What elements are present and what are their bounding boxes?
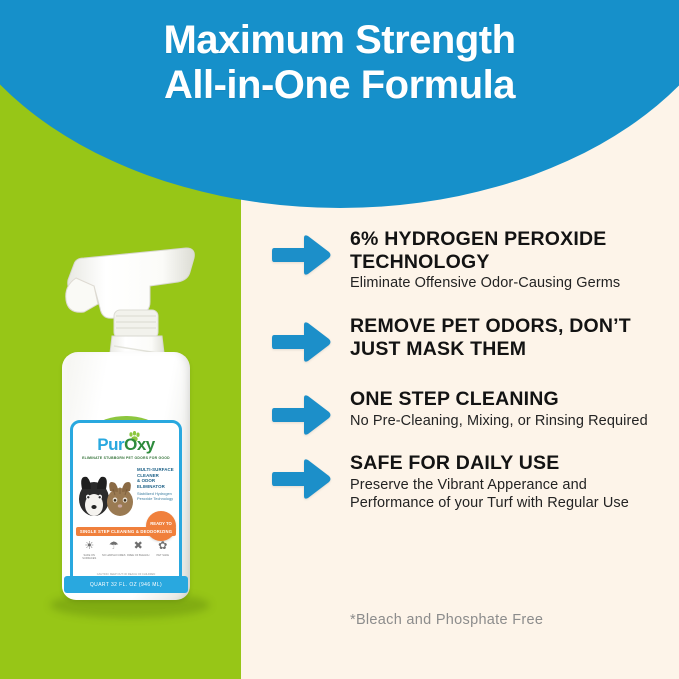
list-item: REMOVE PET ODORS, DON’T JUST MASK THEM <box>272 315 672 360</box>
benefit-icon-4: ✿ PET SAFE <box>151 541 175 557</box>
list-item: 6% HYDROGEN PEROXIDE TECHNOLOGY Eliminat… <box>272 228 672 293</box>
product-tagline: ELIMINATE STUBBORN PET ODORS FOR GOOD <box>73 456 179 460</box>
label-technology: Stabilized Hydrogen Peroxide Technology <box>137 492 182 502</box>
dog-and-cat-photo <box>77 465 135 523</box>
no-bleach-icon: ✖ <box>126 541 150 552</box>
benefit-icon-1: ☀ SAFE ON SURFACES <box>77 541 101 560</box>
pet-safe-icon: ✿ <box>151 541 175 552</box>
feature-subtitle: Preserve the Vibrant Apperance and Perfo… <box>350 477 672 512</box>
feature-subtitle: Eliminate Offensive Odor-Causing Germs <box>350 275 672 293</box>
benefit-icon-3: ✖ FREE OF BLEACH <box>126 541 150 557</box>
benefit-caption-1: SAFE ON SURFACES <box>77 554 101 560</box>
feature-title: 6% HYDROGEN PEROXIDE TECHNOLOGY <box>350 228 672 273</box>
promo-graphic: Maximum Strength All-in-One Formula <box>0 0 679 679</box>
brand-oxy: Oxy <box>124 435 155 454</box>
feature-title: ONE STEP CLEANING <box>350 388 672 411</box>
label-product-line1: MULTI-SURFACE CLEANER <box>137 467 182 478</box>
label-volume-band: QUART 32 FL. OZ (946 ML) <box>64 576 188 593</box>
arrow-right-icon <box>272 321 332 363</box>
brand-logo: PurOxy <box>73 435 179 455</box>
product-bottle: PurOxy ELIMINATE STUBBORN PET ODORS FOR … <box>40 240 220 640</box>
benefit-caption-2: NO HARSH FUMES <box>102 554 126 557</box>
label-right-column: MULTI-SURFACE CLEANER & ODOR ELIMINATOR … <box>137 467 182 502</box>
headline-line-1: Maximum Strength <box>163 18 515 62</box>
headline-line-2: All-in-One Formula <box>0 63 679 108</box>
footnote: *Bleach and Phosphate Free <box>350 612 543 628</box>
arrow-right-icon <box>272 458 332 500</box>
benefit-caption-4: PET SAFE <box>151 554 175 557</box>
ready-to-use-badge: READY TO USE <box>146 511 176 541</box>
label-orange-banner: SINGLE STEP CLEANING & DEODORIZING <box>76 527 176 536</box>
list-item: ONE STEP CLEANING No Pre-Cleaning, Mixin… <box>272 388 672 430</box>
sun-icon: ☀ <box>77 541 101 552</box>
feature-subtitle: No Pre-Cleaning, Mixing, or Rinsing Requ… <box>350 413 672 431</box>
feature-title: SAFE FOR DAILY USE <box>350 452 672 475</box>
brand-pur: Pur <box>97 435 124 454</box>
list-item: SAFE FOR DAILY USE Preserve the Vibrant … <box>272 452 672 512</box>
benefit-icon-2: ☂ NO HARSH FUMES <box>102 541 126 557</box>
label-product-line2: & ODOR ELIMINATOR <box>137 478 182 489</box>
arrow-right-icon <box>272 234 332 276</box>
feature-title: REMOVE PET ODORS, DON’T JUST MASK THEM <box>350 315 672 360</box>
arrow-right-icon <box>272 394 332 436</box>
page-title: Maximum Strength All-in-One Formula <box>0 18 679 108</box>
feature-list: 6% HYDROGEN PEROXIDE TECHNOLOGY Eliminat… <box>272 228 672 534</box>
benefit-caption-3: FREE OF BLEACH <box>126 554 150 557</box>
benefit-icon-row: ☀ SAFE ON SURFACES ☂ NO HARSH FUMES ✖ FR… <box>77 541 175 573</box>
umbrella-icon: ☂ <box>102 541 126 552</box>
bottle-label: PurOxy ELIMINATE STUBBORN PET ODORS FOR … <box>70 420 182 590</box>
